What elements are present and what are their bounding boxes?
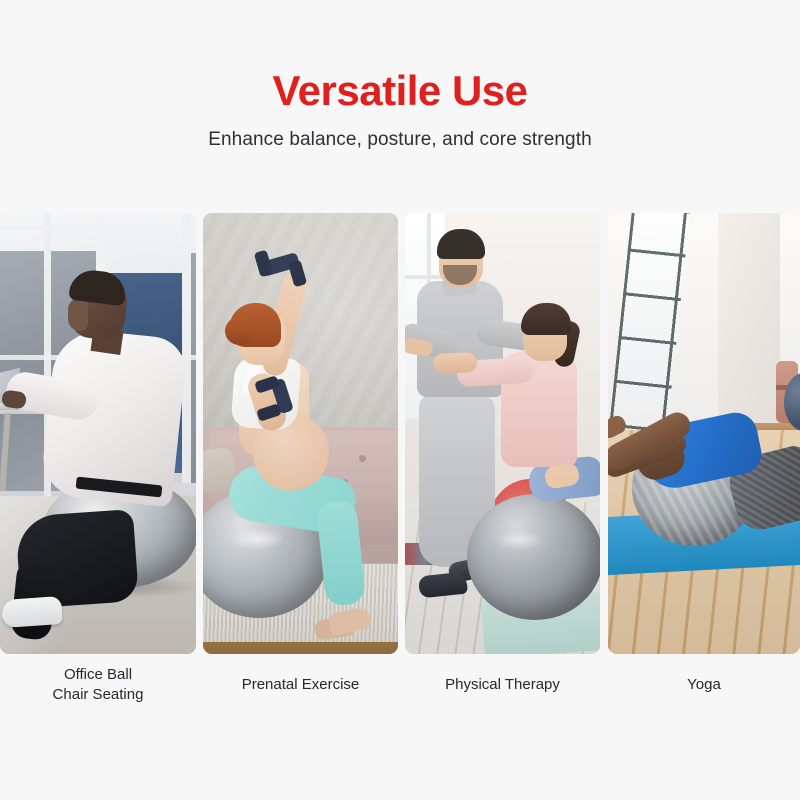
office-scene: [0, 213, 196, 654]
studio-column: [718, 213, 780, 435]
patient-hair: [521, 303, 571, 335]
person-hair-bun: [225, 317, 253, 345]
gallery-captions: Office Ball Chair Seating Prenatal Exerc…: [0, 654, 800, 724]
yoga-scene: [608, 213, 800, 654]
caption-line-1: Prenatal Exercise: [203, 675, 398, 695]
caption-office-ball-chair-seating: Office Ball Chair Seating: [0, 654, 196, 705]
caption-line-1: Physical Therapy: [405, 675, 600, 695]
page-subtitle: Enhance balance, posture, and core stren…: [0, 129, 800, 151]
caption-line-2: Chair Seating: [0, 685, 196, 705]
caption-physical-therapy: Physical Therapy: [405, 654, 600, 695]
caption-prenatal-exercise: Prenatal Exercise: [203, 654, 398, 695]
person-shoe: [1, 596, 63, 628]
caption-line-1: Yoga: [608, 675, 800, 695]
gallery-image-prenatal-exercise: [203, 213, 398, 654]
caption-line-1: Office Ball: [0, 665, 196, 685]
exercise-ball-highlight: [493, 530, 545, 550]
couch-tuft: [359, 455, 366, 462]
gallery-image-office-ball-chair-seating: [0, 213, 196, 654]
header: Versatile Use Enhance balance, posture, …: [0, 0, 800, 151]
caption-yoga: Yoga: [608, 654, 800, 695]
office-rail-top: [0, 225, 196, 230]
gallery-image-physical-therapy: [405, 213, 600, 654]
exercise-ball: [467, 494, 600, 620]
gallery-image-yoga: [608, 213, 800, 654]
product-feature-page: Versatile Use Enhance balance, posture, …: [0, 0, 800, 800]
patient-forearm: [433, 352, 478, 374]
window-bar: [405, 275, 445, 279]
exercise-ball-highlight: [229, 528, 285, 550]
person-face: [68, 299, 88, 331]
use-case-gallery: [0, 213, 800, 654]
prenatal-scene: [203, 213, 398, 654]
therapy-scene: [405, 213, 600, 654]
page-title: Versatile Use: [0, 68, 800, 113]
